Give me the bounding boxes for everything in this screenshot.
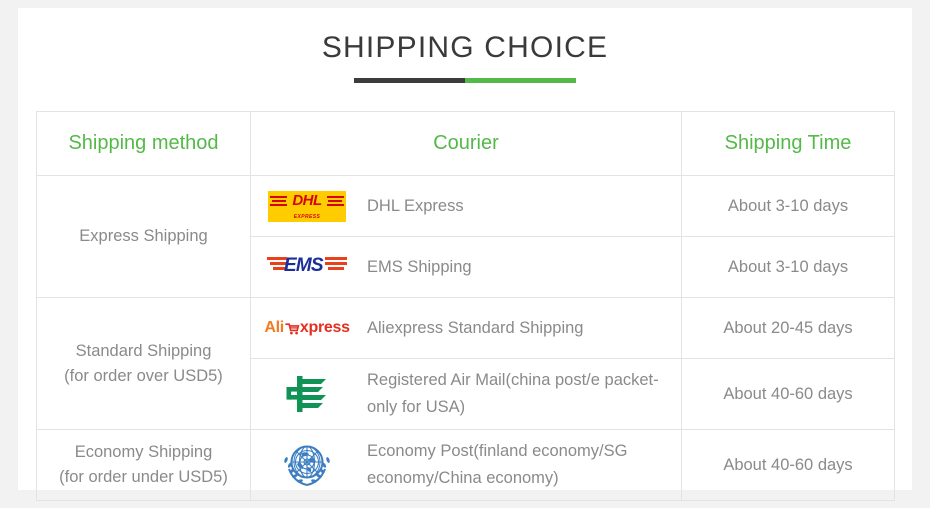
ems-logo-word: EMS bbox=[284, 256, 323, 276]
header-courier: Courier bbox=[251, 112, 682, 176]
method-label: Express Shipping bbox=[43, 224, 244, 249]
method-label: Economy Shipping bbox=[43, 440, 244, 465]
table-row: Express Shipping DHL bbox=[37, 176, 895, 237]
aliexpress-logo-suffix: xpress bbox=[300, 319, 350, 337]
title-underline bbox=[354, 78, 576, 83]
courier-name: EMS Shipping bbox=[367, 254, 472, 281]
underline-green-segment bbox=[465, 78, 576, 83]
china-post-icon bbox=[285, 373, 329, 415]
shipping-table: Shipping method Courier Shipping Time Ex… bbox=[36, 111, 895, 501]
courier-name: Registered Air Mail(china post/e packet-… bbox=[367, 367, 671, 421]
time-cell: About 3-10 days bbox=[682, 176, 895, 237]
courier-name: DHL Express bbox=[367, 193, 464, 220]
table-header-row: Shipping method Courier Shipping Time bbox=[37, 112, 895, 176]
courier-name: Aliexpress Standard Shipping bbox=[367, 315, 583, 342]
courier-name: Economy Post(finland economy/SG economy/… bbox=[367, 438, 671, 492]
title-block: SHIPPING CHOICE bbox=[18, 30, 912, 83]
header-shipping-time: Shipping Time bbox=[682, 112, 895, 176]
courier-cell-ems: EMS EMS Shipping bbox=[251, 237, 682, 298]
courier-cell-economy-post: Economy Post(finland economy/SG economy/… bbox=[251, 430, 682, 501]
dhl-logo-subtext: EXPRESS bbox=[268, 214, 346, 220]
table-row: Standard Shipping (for order over USD5) … bbox=[37, 298, 895, 359]
method-note: (for order over USD5) bbox=[43, 364, 244, 389]
content-card: SHIPPING CHOICE Shipping method Courier … bbox=[18, 8, 912, 490]
time-cell: About 20-45 days bbox=[682, 298, 895, 359]
dhl-logo-word: DHL bbox=[268, 193, 346, 208]
courier-cell-dhl: DHL EXPRESS DHL Express bbox=[251, 176, 682, 237]
page-title: SHIPPING CHOICE bbox=[18, 30, 912, 66]
method-note: (for order under USD5) bbox=[43, 465, 244, 490]
aliexpress-logo-prefix: Ali bbox=[264, 319, 284, 337]
table-row: Economy Shipping (for order under USD5) bbox=[37, 430, 895, 501]
shopping-cart-icon bbox=[285, 321, 300, 336]
dhl-logo: DHL EXPRESS bbox=[265, 184, 349, 228]
header-shipping-method: Shipping method bbox=[37, 112, 251, 176]
courier-cell-aliexpress: Ali xpress Alie bbox=[251, 298, 682, 359]
ems-logo: EMS bbox=[265, 245, 349, 289]
method-cell-economy: Economy Shipping (for order under USD5) bbox=[37, 430, 251, 501]
method-cell-express: Express Shipping bbox=[37, 176, 251, 298]
time-cell: About 40-60 days bbox=[682, 359, 895, 430]
time-cell: About 3-10 days bbox=[682, 237, 895, 298]
aliexpress-logo: Ali xpress bbox=[265, 306, 349, 350]
un-emblem-logo bbox=[265, 443, 349, 487]
method-cell-standard: Standard Shipping (for order over USD5) bbox=[37, 298, 251, 430]
china-post-logo bbox=[265, 372, 349, 416]
time-cell: About 40-60 days bbox=[682, 430, 895, 501]
underline-dark-segment bbox=[354, 78, 465, 83]
courier-cell-china-post: Registered Air Mail(china post/e packet-… bbox=[251, 359, 682, 430]
un-emblem-icon bbox=[280, 440, 334, 490]
method-label: Standard Shipping bbox=[43, 339, 244, 364]
